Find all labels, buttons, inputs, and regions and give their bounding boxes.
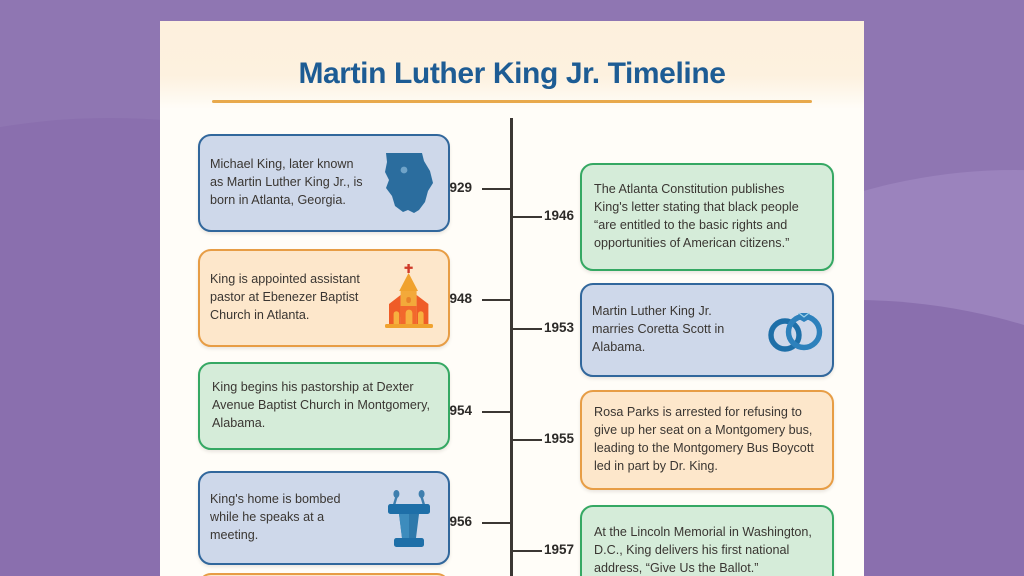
timeline-event-text-1929: Michael King, later known as Martin Luth… [200,148,376,218]
timeline-event-text-1956: King's home is bombed while he speaks at… [200,483,376,553]
timeline-event-text-1954: King begins his pastorship at Dexter Ave… [200,371,448,441]
podium-icon [376,481,448,555]
podium-icon [379,483,439,553]
timeline-event-text-1955: Rosa Parks is arrested for refusing to g… [582,396,832,484]
timeline-event-card-1946: The Atlanta Constitution publishes King'… [580,163,834,271]
timeline-event-text-1946: The Atlanta Constitution publishes King'… [582,173,832,261]
timeline-tick-1953 [512,328,542,330]
georgia-state-map-icon [381,150,437,216]
timeline-event-card-1954: King begins his pastorship at Dexter Ave… [198,362,450,450]
timeline-year-label-1955: 1955 [544,431,574,446]
church-icon [378,262,440,334]
timeline-event-card-1957: At the Lincoln Memorial in Washington, D… [580,505,834,576]
georgia-state-map-icon [376,146,448,220]
timeline-event-card-1955: Rosa Parks is arrested for refusing to g… [580,390,834,490]
timeline-event-card-1956: King's home is bombed while he speaks at… [198,471,450,565]
page-title: Martin Luther King Jr. Timeline [160,57,864,91]
timeline-tick-1954 [482,411,512,413]
timeline-tick-1955 [512,439,542,441]
timeline-event-text-1953: Martin Luther King Jr. marries Coretta S… [582,295,760,365]
timeline-event-card-1948: King is appointed assistant pastor at Eb… [198,249,450,347]
wedding-rings-icon [761,301,825,359]
timeline-event-card-1953: Martin Luther King Jr. marries Coretta S… [580,283,834,377]
timeline-year-label-1946: 1946 [544,208,574,223]
timeline-tick-1929 [482,188,512,190]
timeline-axis [510,118,513,576]
timeline-event-text-1948: King is appointed assistant pastor at Eb… [200,263,376,333]
timeline-tick-1957 [512,550,542,552]
wedding-rings-icon [760,293,832,367]
timeline-tick-1946 [512,216,542,218]
timeline-year-label-1953: 1953 [544,320,574,335]
timeline-event-text-1957: At the Lincoln Memorial in Washington, D… [582,516,832,576]
title-underline-rule [212,100,812,103]
timeline-tick-1956 [482,522,512,524]
timeline-year-label-1957: 1957 [544,542,574,557]
timeline-event-card-1929: Michael King, later known as Martin Luth… [198,134,450,232]
worksheet-page: Martin Luther King Jr. Timeline 19291946… [160,21,864,576]
timeline-tick-1948 [482,299,512,301]
church-icon [376,261,448,335]
